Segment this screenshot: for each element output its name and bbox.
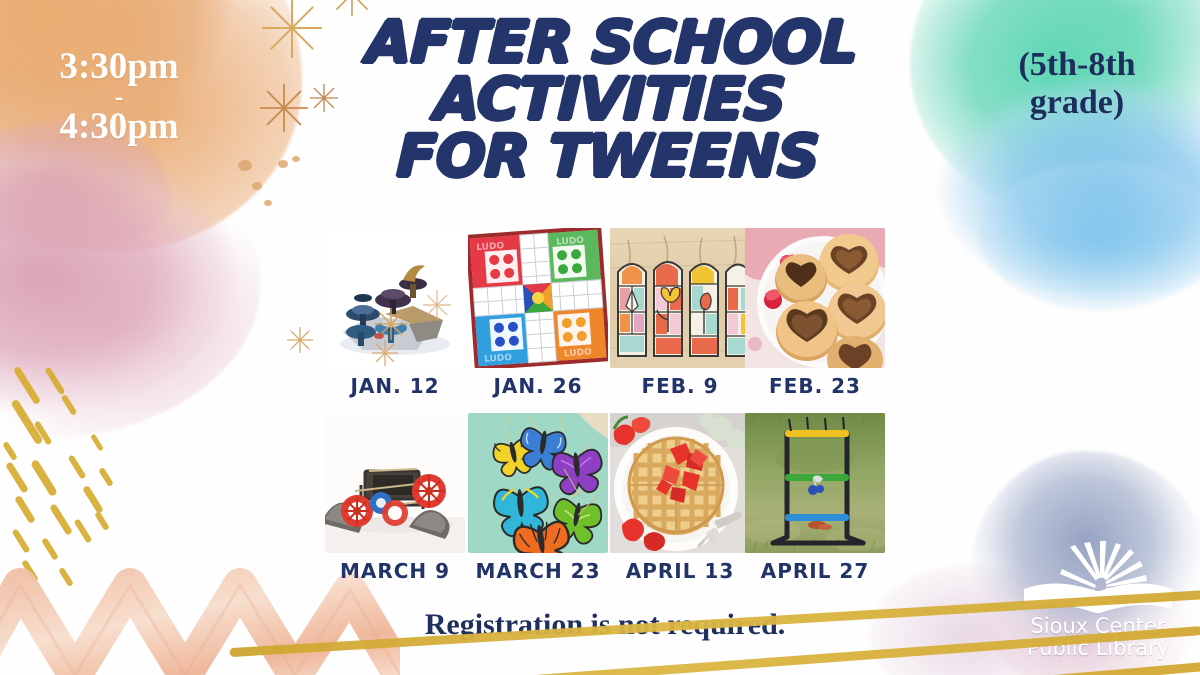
time-separator: - (24, 87, 214, 108)
svg-text:LUDO: LUDO (476, 241, 505, 253)
session-date: April 13 (610, 559, 750, 583)
gold-dash (90, 434, 104, 452)
session-item: Feb. 9 (610, 228, 750, 398)
session-date: Feb. 9 (610, 374, 750, 398)
session-date: Feb. 23 (745, 374, 885, 398)
gold-dash (68, 454, 87, 479)
session-image-spinning-tops (325, 228, 465, 368)
svg-text:LUDO: LUDO (556, 236, 585, 248)
time-start: 3:30pm (59, 46, 178, 87)
dot-decoration (292, 156, 300, 162)
session-image-butterfly-crafts (468, 413, 608, 553)
session-item: March 9 (325, 413, 465, 583)
program-time: 3:30pm - 4:30pm (24, 48, 214, 146)
svg-text:LUDO: LUDO (564, 347, 593, 359)
title-line-3: for Tweens (327, 128, 889, 185)
session-grid: Jan. 12 (325, 228, 885, 598)
gold-dash (61, 394, 78, 416)
session-item: April 13 (610, 413, 750, 583)
title-line-1: After School (331, 14, 893, 71)
page-title: After School Activities for Tweens (327, 14, 893, 184)
dot-decoration (264, 200, 272, 206)
dot-decoration (278, 160, 288, 168)
gold-dash (5, 461, 29, 494)
session-item: March 23 (468, 413, 608, 583)
session-date: March 23 (468, 559, 608, 583)
dot-decoration (238, 160, 252, 171)
session-date: April 27 (745, 559, 885, 583)
time-end: 4:30pm (59, 106, 178, 147)
session-date: Jan. 12 (325, 374, 465, 398)
sparkle-star-icon (262, 0, 322, 58)
session-date: March 9 (325, 559, 465, 583)
session-image-ludo-board: LUDOLUDO LUDOLUDO (468, 228, 608, 368)
gold-dash (30, 459, 58, 497)
session-date: Jan. 26 (468, 374, 608, 398)
gold-dash (12, 528, 31, 553)
session-item: April 27 (745, 413, 885, 583)
sparkle-star-icon (260, 84, 308, 132)
svg-text:LUDO: LUDO (484, 353, 513, 365)
gold-dash (98, 467, 114, 487)
grade-line-2: grade) (1030, 84, 1124, 121)
session-item: Feb. 23 (745, 228, 885, 398)
session-item: LUDOLUDO LUDOLUDO Jan. 26 (468, 228, 608, 398)
gold-dash (45, 367, 66, 396)
grade-line-1: (5th-8th (1018, 46, 1135, 83)
title-line-2: Activities (329, 71, 891, 128)
gold-dash (2, 441, 18, 461)
poster-canvas: 3:30pm - 4:30pm (5th-8th grade) After Sc… (0, 0, 1200, 675)
gold-dash (74, 518, 93, 543)
gold-dash (94, 511, 110, 531)
gold-dash (14, 495, 36, 524)
session-image-waffles-strawberries (610, 413, 750, 553)
session-row-2: March 9 (325, 413, 885, 598)
sparkle-star-icon (287, 327, 313, 353)
session-row-1: Jan. 12 (325, 228, 885, 413)
session-image-chocolate-heart-cookies (745, 228, 885, 368)
gold-dash (49, 503, 73, 536)
grade-range: (5th-8th grade) (972, 46, 1182, 122)
session-image-stained-glass-bookmarks (610, 228, 750, 368)
session-item: Jan. 12 (325, 228, 465, 398)
session-image-ladder-toss-game (745, 413, 885, 553)
blue-watercolor-blob-secondary (980, 160, 1200, 310)
dot-decoration (252, 182, 262, 190)
session-image-rubber-band-car (325, 413, 465, 553)
gold-dash (82, 485, 104, 514)
